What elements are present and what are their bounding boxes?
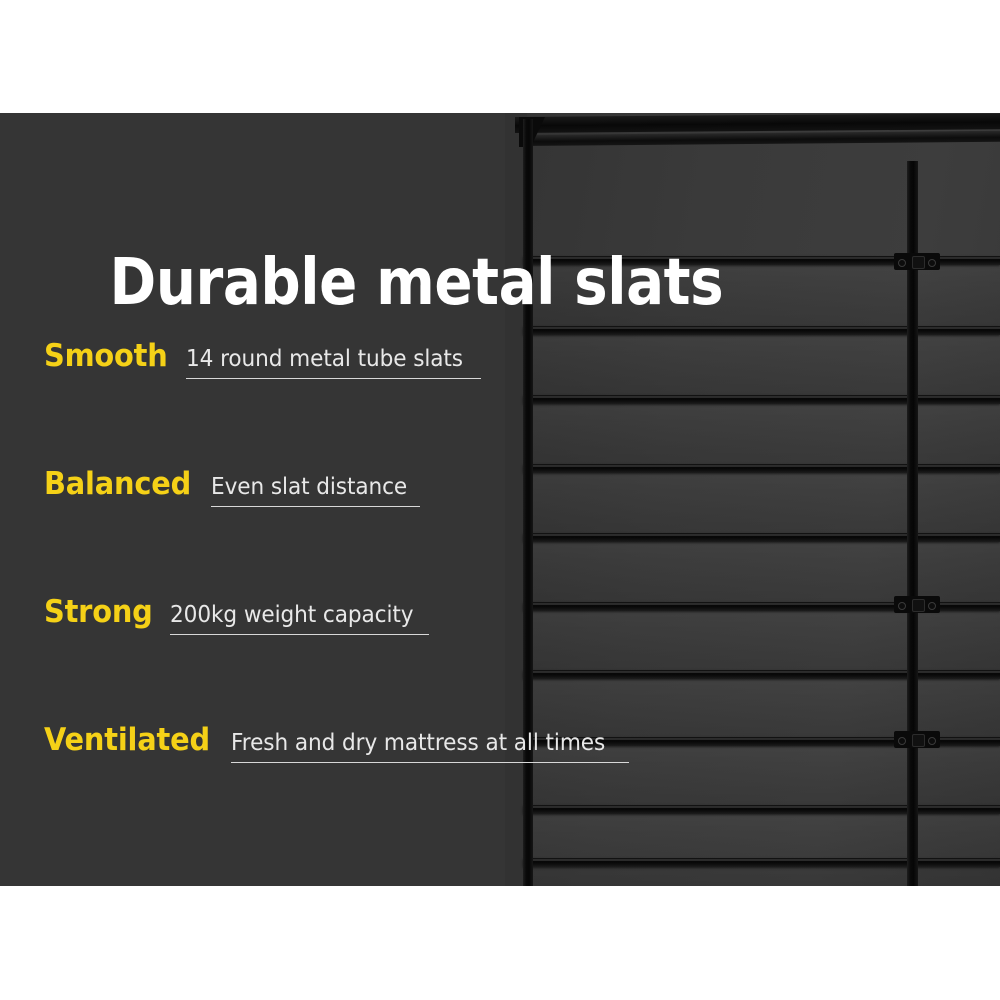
bed-frame-photo [505, 113, 1000, 886]
feature-description: Fresh and dry mattress at all times [231, 732, 605, 755]
frame-top-rail [515, 113, 1000, 133]
page-title: Durable metal slats [60, 251, 940, 315]
bolt-icon [912, 599, 925, 612]
metal-slat [523, 395, 1000, 404]
product-feature-banner: Durable metal slats Smooth 14 round meta… [0, 0, 1000, 1000]
metal-slat [523, 858, 1000, 867]
feature-term: Balanced [44, 469, 191, 500]
slat-bay [523, 402, 1000, 471]
metal-slat [523, 805, 1000, 814]
metal-slat [523, 670, 1000, 679]
screw-icon [928, 737, 936, 745]
metal-slat [523, 326, 1000, 335]
feature-description: 200kg weight capacity [170, 604, 413, 627]
metal-slat [523, 533, 1000, 542]
feature-term: Strong [44, 597, 153, 628]
slat-bay [523, 471, 1000, 540]
feature-description: Even slat distance [211, 476, 407, 499]
feature-term: Smooth [44, 341, 168, 372]
feature-description: 14 round metal tube slats [186, 348, 463, 371]
screw-icon [898, 602, 906, 610]
metal-slat [523, 464, 1000, 473]
slat-bay [523, 812, 1000, 886]
frame-top-rail-inner [519, 131, 1000, 146]
slat-bracket [894, 596, 940, 613]
feature-term: Ventilated [44, 725, 210, 756]
slat-bay [523, 609, 1000, 677]
feature-description-underline: 14 round metal tube slats [186, 348, 481, 379]
feature-description-underline: 200kg weight capacity [170, 604, 429, 635]
feature-item-smooth: Smooth 14 round metal tube slats [44, 341, 564, 469]
slat-bracket [894, 731, 940, 748]
feature-description-underline: Even slat distance [211, 476, 420, 507]
feature-item-ventilated: Ventilated Fresh and dry mattress at all… [44, 725, 564, 853]
bolt-icon [912, 734, 925, 747]
feature-description-underline: Fresh and dry mattress at all times [231, 732, 629, 763]
slat-bay [523, 333, 1000, 402]
screw-icon [898, 737, 906, 745]
dark-panel: Durable metal slats Smooth 14 round meta… [0, 113, 1000, 886]
screw-icon [928, 602, 936, 610]
feature-item-balanced: Balanced Even slat distance [44, 469, 564, 597]
feature-item-strong: Strong 200kg weight capacity [44, 597, 564, 725]
feature-list: Smooth 14 round metal tube slats Balance… [44, 341, 564, 853]
